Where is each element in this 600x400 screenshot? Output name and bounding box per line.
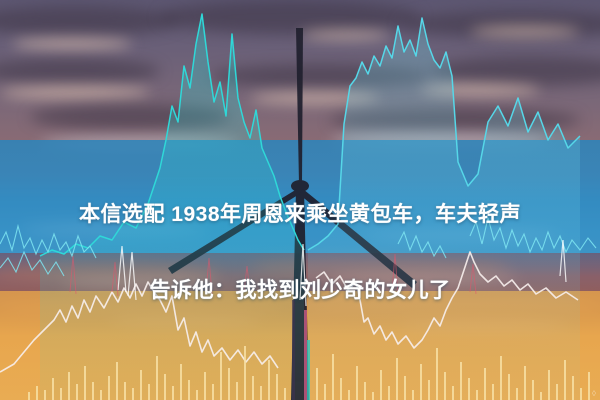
thumbnail-canvas: 本信选配 1938年周恩来乘坐黄包车，车夫轻声 告诉他：我找到刘少奇的女儿了 ◊ <box>0 0 600 400</box>
watermark-mark: ◊ <box>592 389 596 398</box>
headline-line-2: 告诉他：我找到刘少奇的女儿了 <box>0 272 600 310</box>
headline-line-1: 本信选配 1938年周恩来乘坐黄包车，车夫轻声 <box>0 196 600 234</box>
headline-text: 本信选配 1938年周恩来乘坐黄包车，车夫轻声 告诉他：我找到刘少奇的女儿了 <box>0 158 600 348</box>
